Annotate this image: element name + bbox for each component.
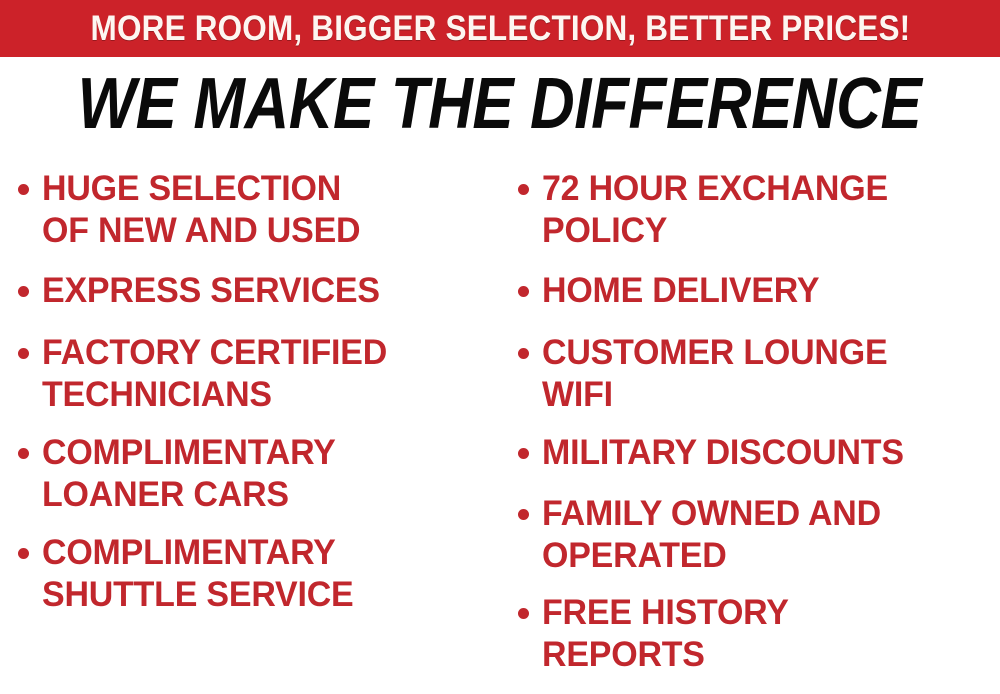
list-item: FAMILY OWNED AND OPERATED xyxy=(518,493,1000,577)
list-item: COMPLIMENTARY SHUTTLE SERVICE xyxy=(18,532,510,616)
list-item-label: CUSTOMER LOUNGE WIFI xyxy=(542,332,887,416)
bullet-dot-icon xyxy=(18,448,29,459)
bullet-dot-icon xyxy=(18,184,29,195)
promo-banner-text: MORE ROOM, BIGGER SELECTION, BETTER PRIC… xyxy=(90,11,910,46)
list-item: COMPLIMENTARY LOANER CARS xyxy=(18,432,510,516)
list-item: FREE HISTORY REPORTS xyxy=(518,592,1000,676)
bullet-dot-icon xyxy=(518,348,529,359)
bullet-dot-icon xyxy=(518,509,529,520)
list-item: HOME DELIVERY xyxy=(518,270,1000,312)
bullet-dot-icon xyxy=(518,184,529,195)
list-item: FACTORY CERTIFIED TECHNICIANS xyxy=(18,332,510,416)
list-item: MILITARY DISCOUNTS xyxy=(518,432,1000,474)
list-item-label: COMPLIMENTARY LOANER CARS xyxy=(42,432,336,516)
bullet-dot-icon xyxy=(18,548,29,559)
headline: WE MAKE THE DIFFERENCE xyxy=(0,68,1000,140)
list-item-label: FAMILY OWNED AND OPERATED xyxy=(542,493,881,577)
list-item-label: MILITARY DISCOUNTS xyxy=(542,432,904,474)
bullet-dot-icon xyxy=(18,348,29,359)
list-item: CUSTOMER LOUNGE WIFI xyxy=(518,332,1000,416)
bullet-dot-icon xyxy=(518,608,529,619)
list-item-label: COMPLIMENTARY SHUTTLE SERVICE xyxy=(42,532,354,616)
headline-text: WE MAKE THE DIFFERENCE xyxy=(78,68,922,140)
list-item: EXPRESS SERVICES xyxy=(18,270,510,312)
bullet-dot-icon xyxy=(518,448,529,459)
list-item-label: FREE HISTORY REPORTS xyxy=(542,592,789,676)
list-item-label: 72 HOUR EXCHANGE POLICY xyxy=(542,168,888,252)
list-item-label: FACTORY CERTIFIED TECHNICIANS xyxy=(42,332,387,416)
benefits-column-right: 72 HOUR EXCHANGE POLICY HOME DELIVERY CU… xyxy=(518,160,1000,694)
bullet-dot-icon xyxy=(518,286,529,297)
list-item-label: HOME DELIVERY xyxy=(542,270,819,312)
promo-banner: MORE ROOM, BIGGER SELECTION, BETTER PRIC… xyxy=(0,0,1000,57)
list-item: HUGE SELECTION OF NEW AND USED xyxy=(18,168,510,252)
bullet-dot-icon xyxy=(18,286,29,297)
benefits-column-left: HUGE SELECTION OF NEW AND USED EXPRESS S… xyxy=(18,160,510,694)
list-item-label: HUGE SELECTION OF NEW AND USED xyxy=(42,168,360,252)
benefits-columns: HUGE SELECTION OF NEW AND USED EXPRESS S… xyxy=(0,160,1000,694)
list-item: 72 HOUR EXCHANGE POLICY xyxy=(518,168,1000,252)
advertisement-banner: MORE ROOM, BIGGER SELECTION, BETTER PRIC… xyxy=(0,0,1000,694)
list-item-label: EXPRESS SERVICES xyxy=(42,270,380,312)
